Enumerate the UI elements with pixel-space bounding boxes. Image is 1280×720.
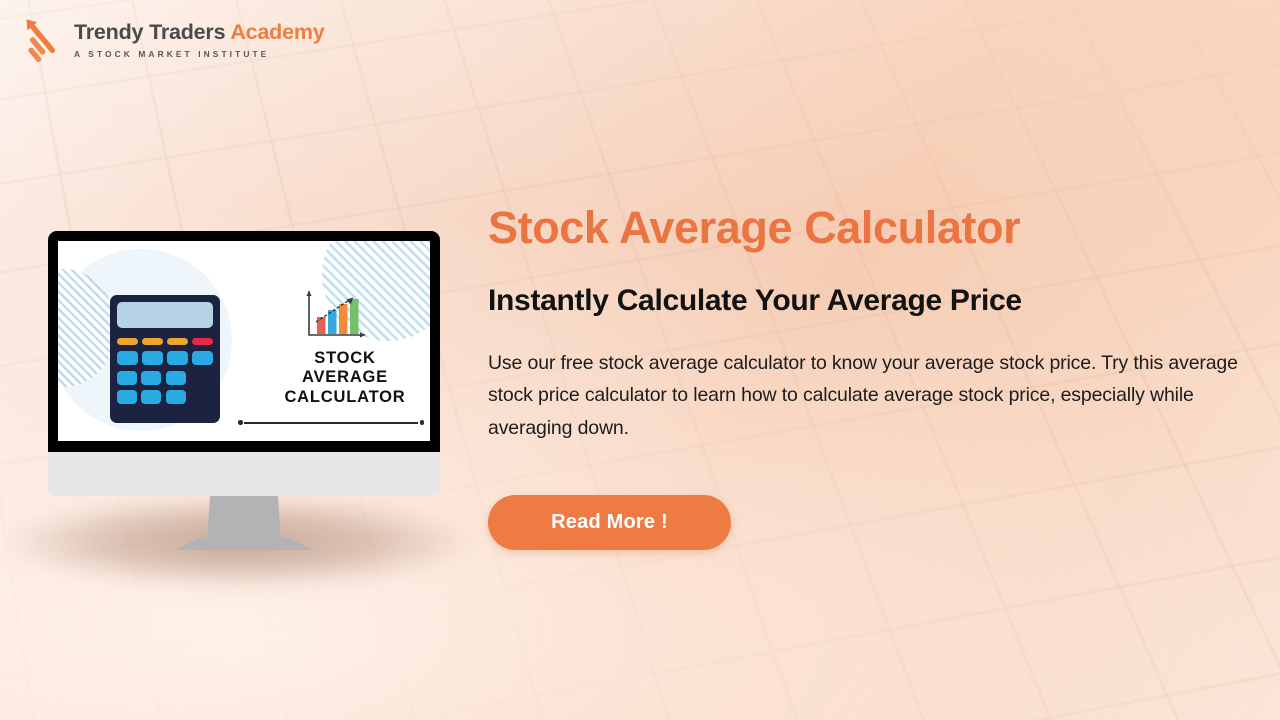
- calculator-key: [192, 351, 213, 365]
- monitor-chin: [48, 452, 440, 496]
- brand-tagline: A STOCK MARKET INSTITUTE: [74, 50, 325, 58]
- monitor-bezel: STOCK AVERAGE CALCULATOR: [48, 231, 440, 453]
- page-title: Stock Average Calculator: [488, 204, 1280, 253]
- calculator-key: [167, 351, 188, 365]
- rule-dot-left: [238, 420, 243, 425]
- monitor-illustration: STOCK AVERAGE CALCULATOR: [48, 231, 440, 550]
- calculator-number-keys: [117, 371, 186, 404]
- brand-name-accent: Academy: [230, 20, 324, 44]
- hero-content: Stock Average Calculator Instantly Calcu…: [488, 204, 1280, 550]
- calculator-function-row: [117, 338, 213, 345]
- hero-description: Use our free stock average calculator to…: [488, 347, 1280, 445]
- brand-name: Trendy Traders Academy: [74, 22, 325, 44]
- calculator-key: [117, 351, 138, 365]
- trend-arrow-icon: [20, 14, 64, 64]
- calculator-key: [166, 390, 186, 404]
- monitor-screen: STOCK AVERAGE CALCULATOR: [58, 241, 430, 441]
- calculator-pill-key-clear: [192, 338, 213, 345]
- brand-name-primary: Trendy Traders: [74, 20, 225, 44]
- calculator-pill-key: [142, 338, 163, 345]
- screen-headline-line-1: STOCK: [254, 349, 430, 368]
- screen-divider-rule: [238, 421, 424, 424]
- calculator-display: [117, 302, 213, 328]
- calculator-pill-key: [117, 338, 138, 345]
- screen-headline-line-2: AVERAGE: [254, 368, 430, 387]
- page-subtitle: Instantly Calculate Your Average Price: [488, 284, 1280, 317]
- calculator-pill-key: [167, 338, 188, 345]
- calculator-icon: [110, 295, 220, 423]
- brand-logo[interactable]: Trendy Traders Academy A STOCK MARKET IN…: [20, 14, 325, 64]
- calculator-key: [166, 371, 186, 385]
- calculator-enter-key-wrap: [190, 371, 213, 404]
- bar-chart-growth-icon: [301, 289, 367, 341]
- read-more-button[interactable]: Read More !: [488, 495, 731, 550]
- calculator-key: [117, 371, 137, 385]
- calculator-key: [142, 351, 163, 365]
- calculator-key: [141, 371, 161, 385]
- screen-headline-line-3: CALCULATOR: [254, 388, 430, 407]
- calculator-key: [117, 390, 137, 404]
- calculator-keypad-row: [117, 351, 213, 365]
- rule-bar: [244, 422, 418, 424]
- rule-dot-right: [420, 420, 425, 425]
- screen-headline: STOCK AVERAGE CALCULATOR: [254, 349, 430, 407]
- calculator-keypad-lower: [117, 371, 213, 404]
- calculator-key: [141, 390, 161, 404]
